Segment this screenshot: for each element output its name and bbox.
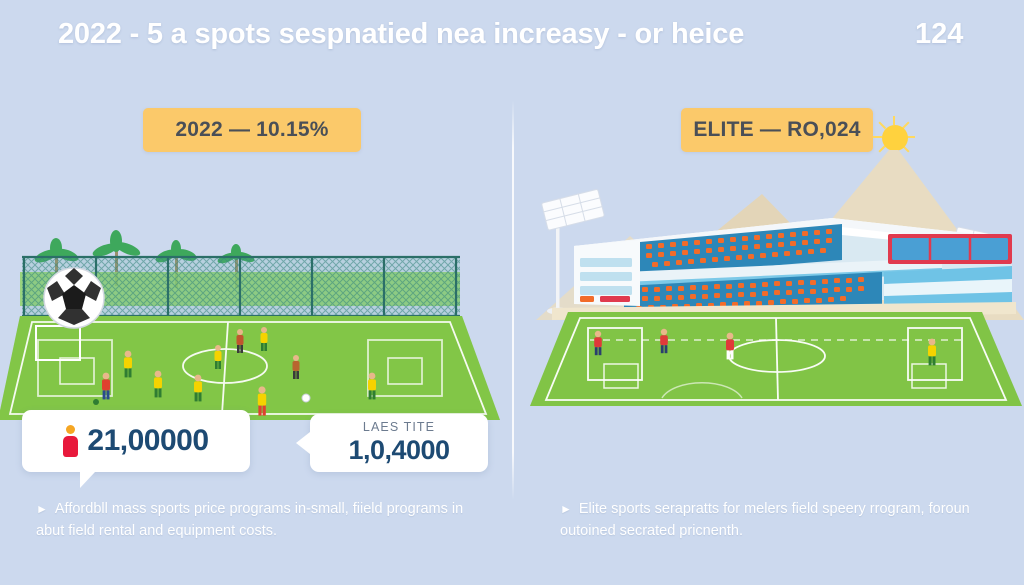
infographic-canvas: 2022 - 5 a spots sespnatied nea increasy… — [0, 0, 1024, 585]
card-notch — [296, 432, 310, 454]
card-tail — [80, 472, 95, 488]
caption-elite: ►Elite sports serapratts for melers fiel… — [560, 498, 1000, 543]
bullet-icon: ► — [560, 502, 572, 516]
caption-community: ►Affordbll mass sports price programs in… — [36, 498, 476, 543]
stat-card-laes-tite-label: LAES TITE — [363, 420, 435, 434]
person-body — [63, 436, 78, 457]
community-field-illustration — [0, 230, 512, 420]
person-head — [66, 425, 75, 434]
stat-card-participants-value: 21,00000 — [87, 424, 208, 458]
stat-card-laes-tite-value: 1,0,4000 — [348, 435, 449, 466]
panel-elite: ELITE — RO,024 — [512, 0, 1024, 585]
badge-elite: ELITE — RO,024 — [681, 108, 873, 152]
badge-community: 2022 — 10.15% — [143, 108, 361, 152]
caption-community-text: Affordbll mass sports price programs in-… — [36, 501, 463, 539]
elite-stadium-illustration — [512, 180, 1024, 330]
person-icon — [63, 425, 78, 457]
stat-card-participants-value-row: 21,00000 — [63, 424, 208, 458]
stat-card-laes-tite[interactable]: LAES TITE 1,0,4000 — [310, 414, 488, 472]
scoreboard — [888, 234, 1012, 264]
stat-card-participants[interactable]: 21,00000 — [22, 410, 250, 472]
panel-community: 2022 — 10.15% — [0, 0, 512, 585]
sun-core — [882, 125, 908, 151]
caption-elite-text: Elite sports serapratts for melers field… — [560, 501, 970, 539]
elite-pitch-illustration — [512, 310, 1024, 420]
bullet-icon: ► — [36, 502, 48, 516]
